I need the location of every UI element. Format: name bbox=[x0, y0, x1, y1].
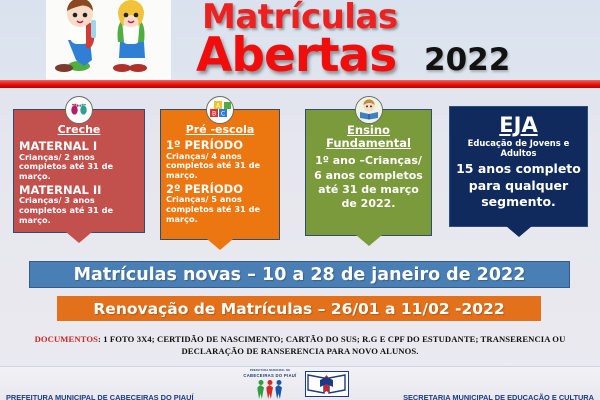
card-row-body: Crianças/ 3 anos completos até 31 de mar… bbox=[19, 196, 139, 225]
card-tab bbox=[207, 239, 233, 250]
poster-footer: PREFEITURA MUNICIPAL DE CABECEIRAS DO PI… bbox=[0, 366, 600, 400]
documents-line-1-text: : 1 FOTO 3X4; CERTIDÃO DE NASCIMENTO; CA… bbox=[98, 334, 565, 344]
card-subtitle-eja: Educação de Jovens e Adultos bbox=[455, 138, 582, 158]
child-reading-book-icon bbox=[355, 96, 383, 124]
education-book-logo bbox=[305, 371, 349, 397]
banner-renewal-text: Renovação de Matrículas – 26/01 a 11/02 … bbox=[93, 300, 504, 318]
red-divider-bar bbox=[0, 80, 600, 88]
banner-new-enrollment: Matrículas novas – 10 a 28 de janeiro de… bbox=[29, 261, 570, 288]
footer-left-text: PREFEITURA MUNICIPAL DE CABECEIRAS DO PI… bbox=[6, 393, 194, 400]
card-tab bbox=[66, 232, 92, 243]
banner-new-enrollment-text: Matrículas novas – 10 a 28 de janeiro de… bbox=[74, 265, 526, 285]
poster-header: Matrículas Abertas 2022 bbox=[0, 0, 600, 82]
card-row-body: Crianças/ 2 anos completos até 31 de mar… bbox=[19, 153, 139, 182]
card-body-pre-escola: Pré -escola 1º PERÍODO Crianças/ 4 anos … bbox=[160, 109, 280, 240]
card-title-ensino-fundamental: Ensino Fundamental bbox=[311, 124, 426, 150]
documents-label: DOCUMENTOS bbox=[35, 334, 98, 344]
card-body-creche: Creche MATERNAL I Crianças/ 2 anos compl… bbox=[13, 109, 145, 233]
card-title-eja: EJA bbox=[455, 113, 582, 137]
logo-figure-red bbox=[265, 380, 274, 399]
card-title-pre-escola: Pré -escola bbox=[166, 124, 274, 137]
card-row-head: 1º PERÍODO bbox=[166, 139, 274, 152]
logo-figure-green bbox=[256, 380, 265, 399]
documents-line-1: DOCUMENTOS: 1 FOTO 3X4; CERTIDÃO DE NASC… bbox=[10, 333, 590, 345]
documents-note: DOCUMENTOS: 1 FOTO 3X4; CERTIDÃO DE NASC… bbox=[10, 333, 590, 358]
card-title-creche: Creche bbox=[19, 124, 139, 137]
banner-renewal: Renovação de Matrículas – 26/01 a 11/02 … bbox=[57, 296, 541, 321]
card-row-body: 15 anos completo para qualquer segmento. bbox=[455, 161, 582, 211]
card-tab bbox=[506, 226, 532, 237]
svg-text:B: B bbox=[212, 111, 216, 118]
title-line-2: Abertas bbox=[196, 28, 396, 83]
documents-line-2: DECLARAÇÃO DE RANSERENCIA PARA NOVO ALUN… bbox=[10, 345, 590, 357]
prefeitura-logo: PREFEITURA MUNICIPAL DE CABECEIRAS DO PI… bbox=[242, 369, 298, 399]
title-year: 2022 bbox=[424, 42, 510, 78]
card-body-ensino-fundamental: Ensino Fundamental 1º ano –Crianças/ 6 a… bbox=[305, 109, 432, 236]
prefeitura-logo-caption: CABECEIRAS DO PIAUÍ bbox=[242, 373, 298, 378]
baby-footprints-icon bbox=[65, 96, 93, 124]
card-row-body: Crianças/ 4 anos completos até 31 de mar… bbox=[166, 152, 274, 181]
enrollment-poster: Matrículas Abertas 2022 bbox=[0, 0, 600, 400]
logo-figure-blue bbox=[274, 380, 283, 399]
level-cards-row: Creche MATERNAL I Crianças/ 2 anos compl… bbox=[0, 96, 600, 246]
svg-text:C: C bbox=[221, 111, 225, 118]
card-tab bbox=[356, 235, 382, 246]
kids-svg bbox=[46, 0, 171, 80]
abc-blocks-icon: B C A bbox=[206, 96, 234, 124]
prefeitura-logo-small-caption: PREFEITURA MUNICIPAL DE bbox=[242, 369, 298, 372]
card-row-head: MATERNAL I bbox=[19, 140, 139, 153]
card-body-eja: EJA Educação de Jovens e Adultos 15 anos… bbox=[449, 106, 588, 227]
footer-right-text: SECRETARIA MUNICIPAL DE EDUCAÇÃO E CULTU… bbox=[403, 393, 594, 400]
card-row-body: Crianças/ 5 anos completos até 31 de mar… bbox=[166, 195, 274, 224]
card-row-body: 1º ano –Crianças/ 6 anos completos até 3… bbox=[311, 154, 426, 211]
school-kids-illustration bbox=[46, 0, 171, 80]
poster-title-block: Matrículas Abertas 2022 bbox=[196, 0, 600, 82]
